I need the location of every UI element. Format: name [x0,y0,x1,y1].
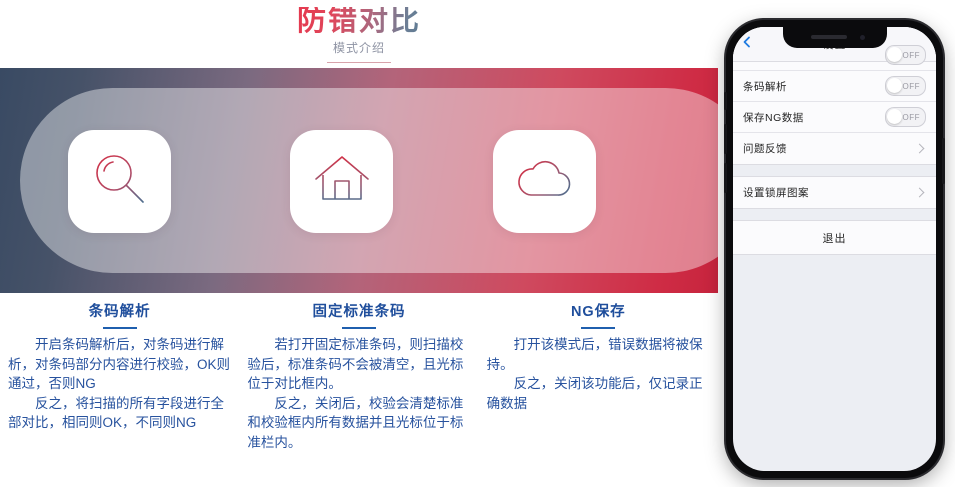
toggle-knob [887,47,902,62]
icon-card-ng-save[interactable] [493,130,596,233]
column-fixed-standard: 固定标准条码 若打开固定标准条码，则扫描校验后，标准条码不会被清空，且光标位于对… [239,293,478,487]
earpiece-speaker [811,35,847,39]
column-paragraph: 若打开固定标准条码，则扫描校验后，标准条码不会被清空，且光标位于对比框内。 [247,335,470,394]
toggle-knob [887,109,902,124]
column-body: 打开该模式后，错误数据将被保持。 反之，关闭该功能后，仅记录正确数据 [487,335,710,413]
page-subtitle: 模式介绍 [333,42,385,54]
column-divider [581,327,615,330]
toggle-fixed-standard-barcode[interactable]: OFF [885,45,926,65]
chevron-right-icon [915,188,925,198]
column-body: 开启条码解析后，对条码进行解析，对条码部分内容进行校验，OK则通过，否则NG 反… [8,335,231,433]
row-label: 问题反馈 [743,141,916,156]
phone-mockup: 设置 固定标准条码 OFF 条码解析 [718,0,955,487]
page-header: 防错对比 模式介绍 [0,0,718,68]
list-spacer [733,209,936,220]
cloud-icon [513,147,577,216]
house-icon [310,147,374,216]
column-barcode-parse: 条码解析 开启条码解析后，对条码进行解析，对条码部分内容进行校验，OK则通过，否… [0,293,239,487]
icon-card-barcode-parse[interactable] [68,130,171,233]
mute-switch[interactable] [724,92,727,110]
power-button[interactable] [942,138,945,184]
column-heading: NG保存 [571,305,626,320]
column-body: 若打开固定标准条码，则扫描校验后，标准条码不会被清空，且光标位于对比框内。 反之… [247,335,470,452]
settings-list-group-lock: 设置锁屏图案 [733,176,936,209]
column-paragraph: 反之，关闭该功能后，仅记录正确数据 [487,374,710,413]
toggle-state-label: OFF [903,82,921,91]
row-label: 条码解析 [743,79,885,94]
title-divider [327,62,391,63]
column-paragraph: 反之，关闭后，校验会清楚标准和校验框内所有数据并且光标位于标准栏内。 [247,394,470,453]
list-spacer [733,165,936,176]
phone-screen: 设置 固定标准条码 OFF 条码解析 [733,27,936,471]
icon-card-fixed-standard[interactable] [290,130,393,233]
gradient-banner [0,68,718,293]
volume-down-button[interactable] [724,163,727,193]
settings-list-group-logout: 退出 [733,220,936,255]
logout-button[interactable]: 退出 [733,221,936,254]
row-label: 保存NG数据 [743,110,885,125]
chevron-right-icon [915,144,925,154]
magnifier-icon [88,147,152,216]
back-chevron-icon[interactable] [741,35,753,47]
column-ng-save: NG保存 打开该模式后，错误数据将被保持。 反之，关闭该功能后，仅记录正确数据 [479,293,718,487]
column-divider [103,327,137,330]
column-heading: 固定标准条码 [312,305,405,320]
setting-row-barcode-parse[interactable]: 条码解析 OFF [733,71,936,102]
toggle-knob [887,78,902,93]
column-paragraph: 开启条码解析后，对条码进行解析，对条码部分内容进行校验，OK则通过，否则NG [8,335,231,394]
phone-body: 设置 固定标准条码 OFF 条码解析 [726,20,943,478]
column-paragraph: 反之，将扫描的所有字段进行全部对比，相同则OK，不同则NG [8,394,231,433]
setting-row-save-ng-data[interactable]: 保存NG数据 OFF [733,102,936,133]
toggle-barcode-parse[interactable]: OFF [885,76,926,96]
column-heading: 条码解析 [89,305,151,320]
phone-notch [783,27,887,48]
setting-row-feedback[interactable]: 问题反馈 [733,133,936,164]
front-camera [860,35,865,40]
toggle-state-label: OFF [903,113,921,122]
description-columns: 条码解析 开启条码解析后，对条码进行解析，对条码部分内容进行校验，OK则通过，否… [0,293,718,487]
column-divider [342,327,376,330]
page-title: 防错对比 [297,7,421,36]
column-paragraph: 打开该模式后，错误数据将被保持。 [487,335,710,374]
volume-up-button[interactable] [724,124,727,154]
row-label: 设置锁屏图案 [743,185,916,200]
banner-icon-cards [0,68,718,293]
setting-row-lock-pattern[interactable]: 设置锁屏图案 [733,177,936,208]
toggle-state-label: OFF [903,51,921,60]
toggle-save-ng-data[interactable]: OFF [885,107,926,127]
